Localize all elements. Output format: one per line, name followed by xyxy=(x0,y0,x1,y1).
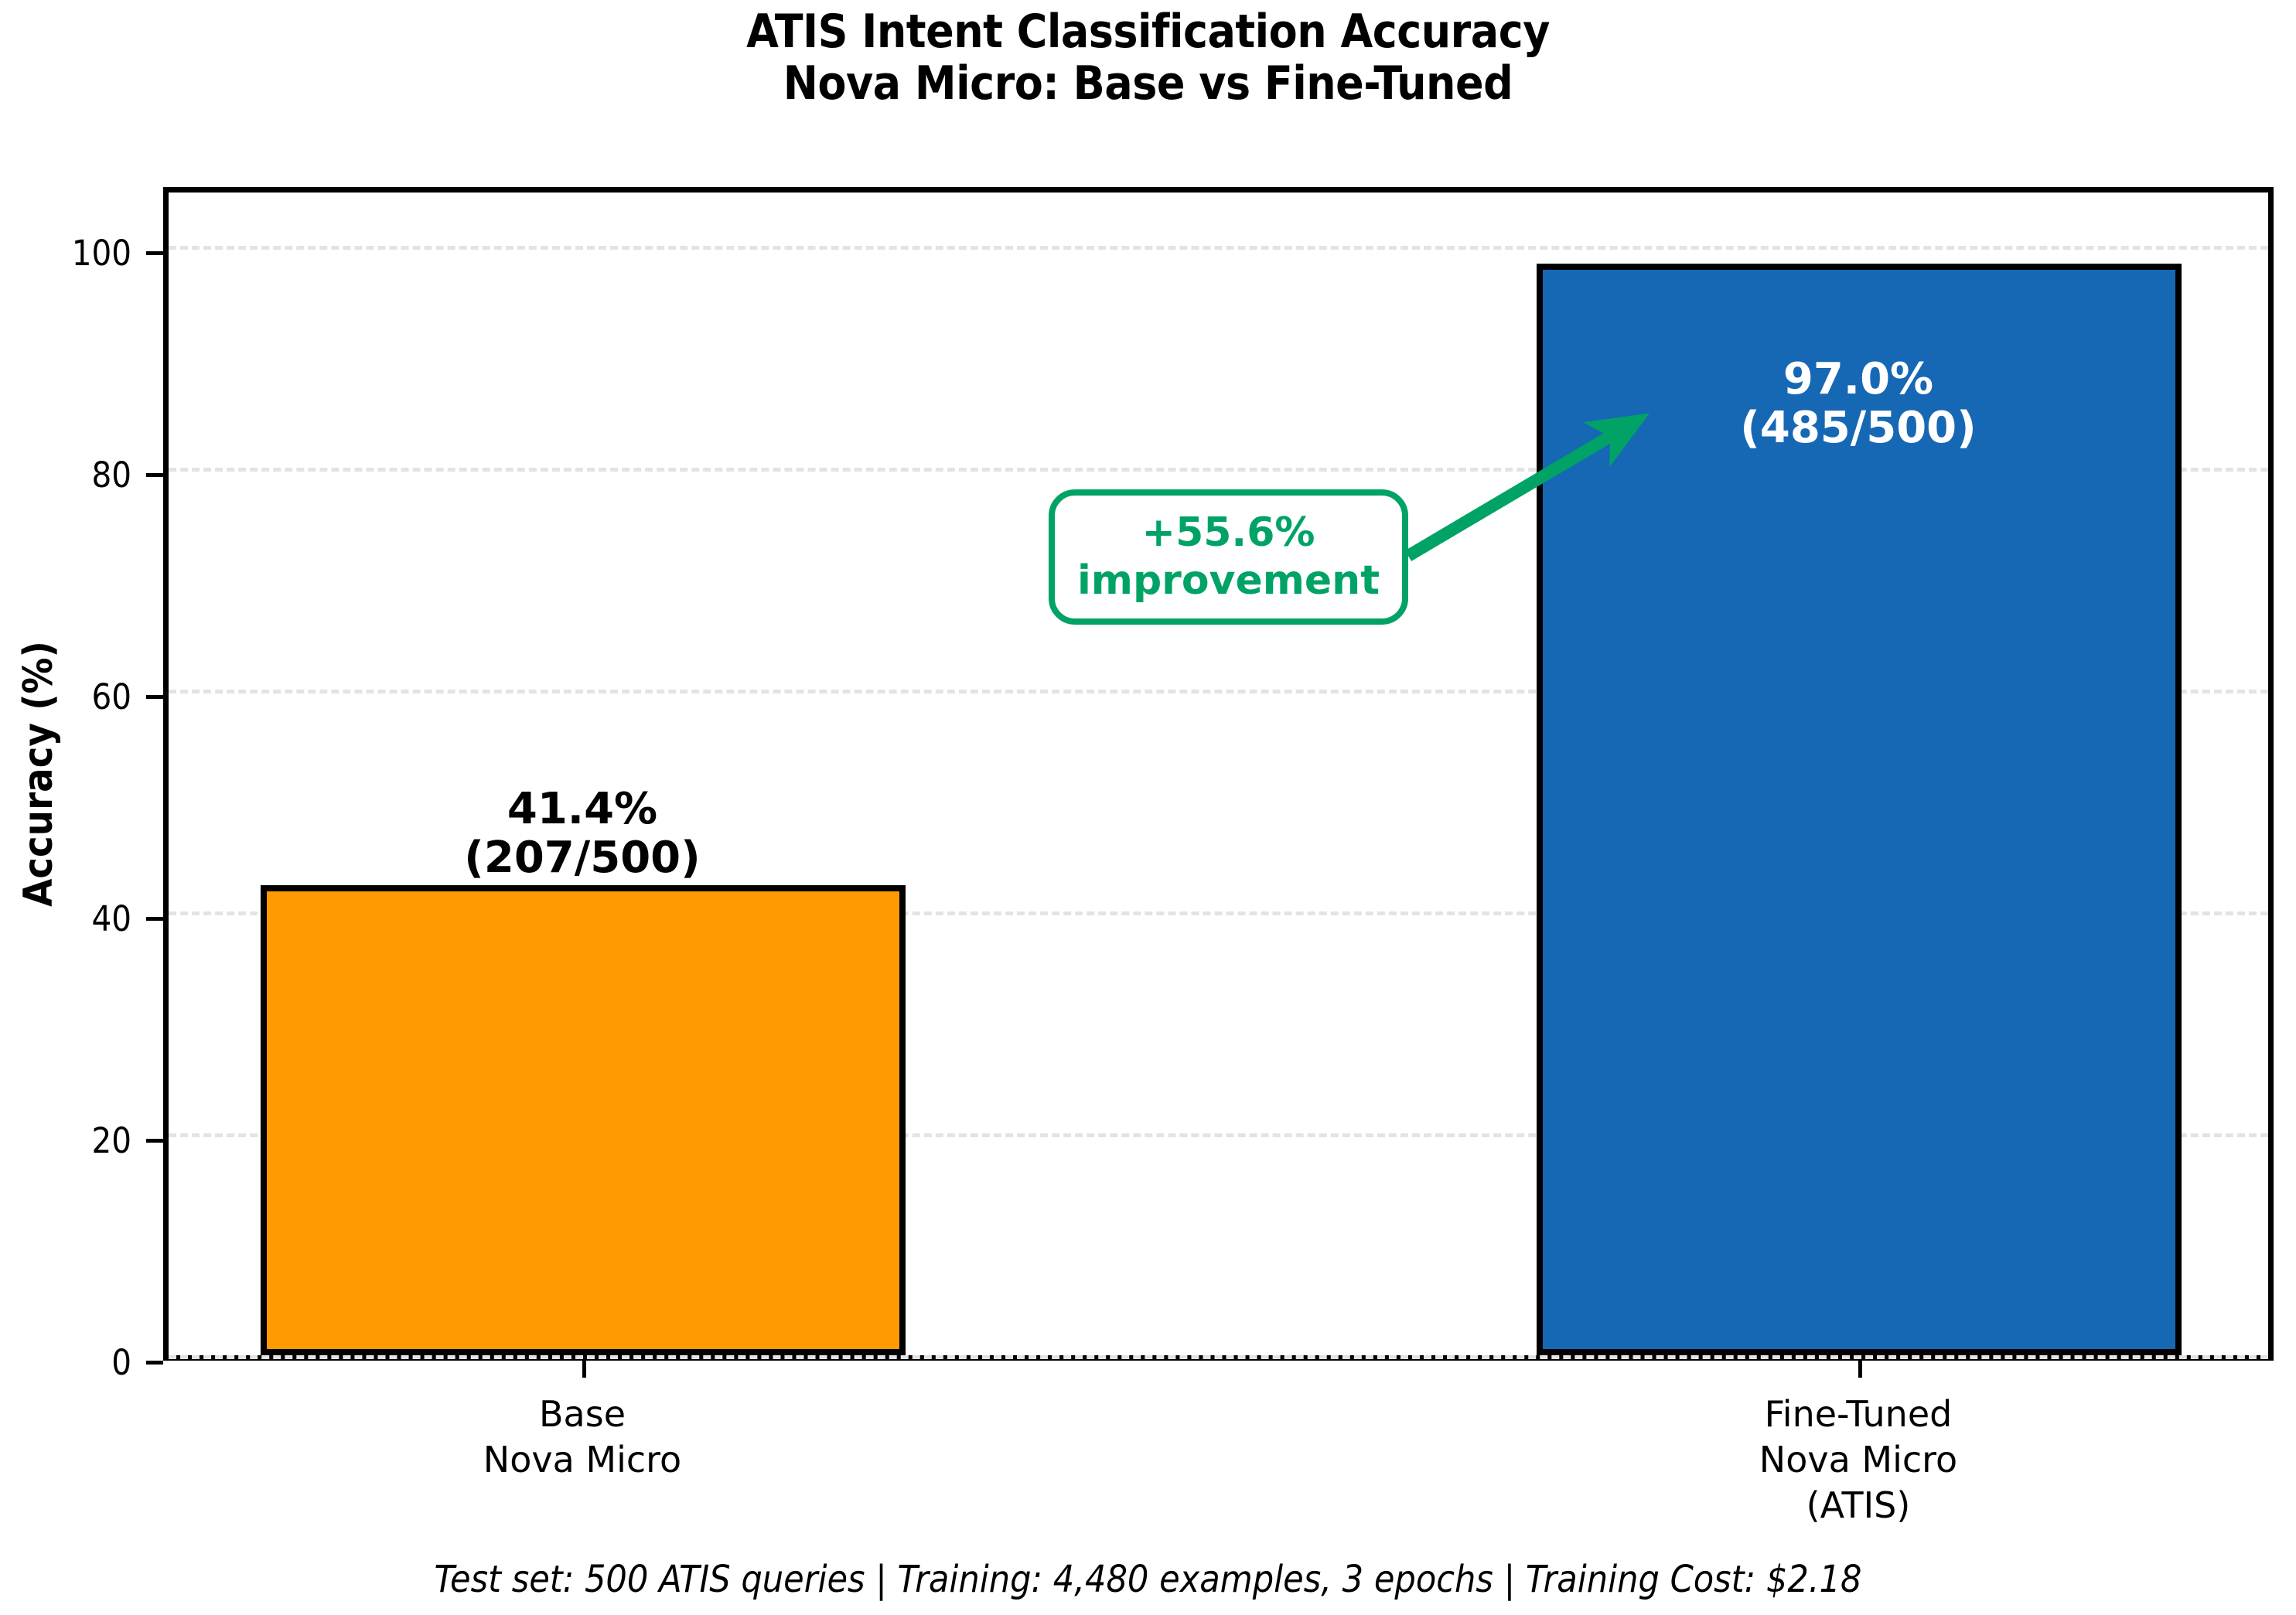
bar-value-label-fine-tuned: 97.0% (485/500) xyxy=(1536,356,2181,452)
chart-title: ATIS Intent Classification Accuracy Nova… xyxy=(0,6,2296,110)
chart-title-line-2: Nova Micro: Base vs Fine-Tuned xyxy=(0,58,2296,110)
bar-value-pct-base: 41.4% xyxy=(260,785,905,834)
y-tick-mark-20 xyxy=(146,1139,163,1143)
improvement-annotation-line-1: +55.6% xyxy=(1142,509,1315,557)
bar-value-count-fine-tuned: (485/500) xyxy=(1536,404,2181,453)
gridline-0 xyxy=(169,1355,2268,1359)
x-tick-label-fine-tuned-line-2: Nova Micro xyxy=(1549,1437,2168,1483)
x-tick-label-base: Base Nova Micro xyxy=(273,1392,892,1483)
y-tick-mark-100 xyxy=(146,251,163,255)
x-tick-label-base-line-2: Nova Micro xyxy=(273,1437,892,1483)
y-tick-label-60: 60 xyxy=(46,676,131,717)
chart-title-line-1: ATIS Intent Classification Accuracy xyxy=(0,6,2296,58)
y-tick-mark-0 xyxy=(146,1361,163,1365)
chart-footnote: Test set: 500 ATIS queries | Training: 4… xyxy=(0,1558,2296,1601)
x-tick-label-fine-tuned-line-3: (ATIS) xyxy=(1549,1483,2168,1528)
x-tick-label-fine-tuned-line-1: Fine-Tuned xyxy=(1549,1392,2168,1437)
y-tick-label-80: 80 xyxy=(46,455,131,496)
y-tick-label-0: 0 xyxy=(46,1342,131,1383)
bar-value-pct-fine-tuned: 97.0% xyxy=(1536,356,2181,404)
gridline-100 xyxy=(169,246,2268,250)
bar-base-nova-micro[interactable] xyxy=(261,885,906,1355)
bar-value-label-base: 41.4% (207/500) xyxy=(260,785,905,882)
improvement-annotation-line-2: improvement xyxy=(1077,557,1380,605)
x-tick-mark-base xyxy=(582,1361,586,1378)
y-tick-mark-60 xyxy=(146,695,163,699)
x-tick-label-fine-tuned: Fine-Tuned Nova Micro (ATIS) xyxy=(1549,1392,2168,1528)
y-tick-mark-40 xyxy=(146,917,163,921)
x-tick-label-base-line-1: Base xyxy=(273,1392,892,1437)
y-tick-label-20: 20 xyxy=(46,1120,131,1161)
y-tick-label-100: 100 xyxy=(46,233,131,274)
chart-figure: ATIS Intent Classification Accuracy Nova… xyxy=(0,0,2296,1615)
x-tick-mark-fine-tuned xyxy=(1858,1361,1862,1378)
y-tick-mark-80 xyxy=(146,473,163,477)
improvement-annotation-box: +55.6% improvement xyxy=(1049,489,1408,625)
y-axis-label-container: Accuracy (%) xyxy=(40,187,71,1361)
bar-value-count-base: (207/500) xyxy=(260,834,905,883)
y-tick-label-40: 40 xyxy=(46,898,131,939)
